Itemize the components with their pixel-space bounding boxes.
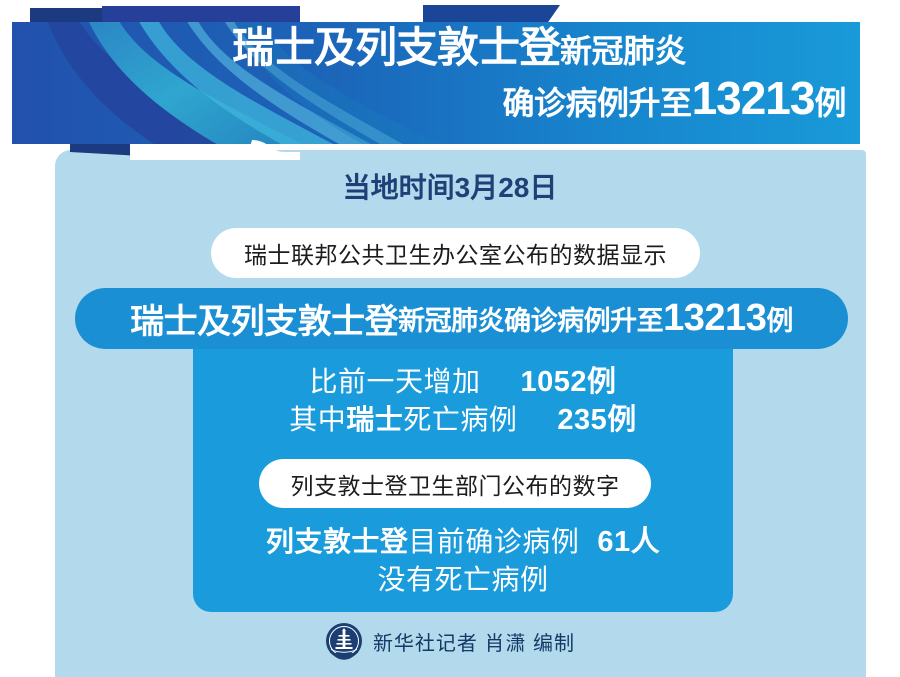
header-title-sub-2: 确诊病例升至 bbox=[503, 85, 692, 121]
header-title-unit: 例 bbox=[814, 85, 846, 121]
stat-row: 比前一天增加1052例 bbox=[193, 363, 733, 401]
stat-value: 235例 bbox=[557, 404, 636, 436]
stat-label: 其中 bbox=[289, 404, 346, 435]
footer-credit: 新华社记者 肖潇 编制 bbox=[0, 622, 900, 660]
source-pill-liechtenstein-label: 列支敦士登卫生部门公布的数字 bbox=[291, 467, 620, 501]
headline-banner-sub: 新冠肺炎确诊病例升至 bbox=[398, 299, 663, 338]
stats-lower: 列支敦士登目前确诊病例61人 没有死亡病例 bbox=[193, 523, 733, 599]
stat-label-emphasis: 列支敦士登 bbox=[266, 526, 409, 557]
infographic-poster: 瑞士及列支敦士登新冠肺炎 确诊病例升至13213例 当地时间3月28日 瑞士联邦… bbox=[0, 0, 900, 677]
header-title-sub: 新冠肺炎 bbox=[560, 33, 686, 69]
xinhua-logo-icon bbox=[325, 622, 363, 660]
stat-label-tail: 死亡病例 bbox=[403, 404, 517, 435]
header-title: 瑞士及列支敦士登新冠肺炎 确诊病例升至13213例 bbox=[200, 26, 860, 122]
stat-row: 没有死亡病例 bbox=[193, 561, 733, 599]
header-title-main: 瑞士及列支敦士登 bbox=[232, 24, 560, 71]
header-title-line-2: 确诊病例升至13213例 bbox=[200, 74, 860, 123]
headline-banner-main: 瑞士及列支敦士登 bbox=[130, 294, 398, 343]
stat-row: 其中瑞士死亡病例235例 bbox=[193, 401, 733, 439]
headline-banner-number: 13213 bbox=[663, 297, 766, 340]
headline-banner: 瑞士及列支敦士登新冠肺炎确诊病例升至13213例 bbox=[75, 288, 848, 349]
source-pill-swiss-label: 瑞士联邦公共卫生办公室公布的数据显示 bbox=[244, 236, 667, 270]
headline-banner-unit: 例 bbox=[766, 299, 793, 338]
footer-credit-text: 新华社记者 肖潇 编制 bbox=[373, 627, 575, 656]
stat-label-emphasis: 瑞士 bbox=[346, 404, 403, 435]
stat-label: 没有死亡病例 bbox=[377, 564, 548, 595]
date-line: 当地时间3月28日 bbox=[0, 166, 900, 206]
header-title-number: 13213 bbox=[692, 72, 815, 124]
source-pill-liechtenstein: 列支敦士登卫生部门公布的数字 bbox=[259, 459, 651, 508]
stat-value: 1052例 bbox=[521, 366, 617, 398]
stat-value: 61人 bbox=[597, 526, 660, 558]
header-title-line-1: 瑞士及列支敦士登新冠肺炎 bbox=[200, 26, 860, 71]
stat-label: 比前一天增加 bbox=[309, 366, 480, 397]
stat-row: 列支敦士登目前确诊病例61人 bbox=[193, 523, 733, 561]
stats-upper: 比前一天增加1052例 其中瑞士死亡病例235例 bbox=[193, 363, 733, 439]
source-pill-swiss: 瑞士联邦公共卫生办公室公布的数据显示 bbox=[211, 228, 700, 278]
stat-label-tail: 目前确诊病例 bbox=[408, 526, 579, 557]
